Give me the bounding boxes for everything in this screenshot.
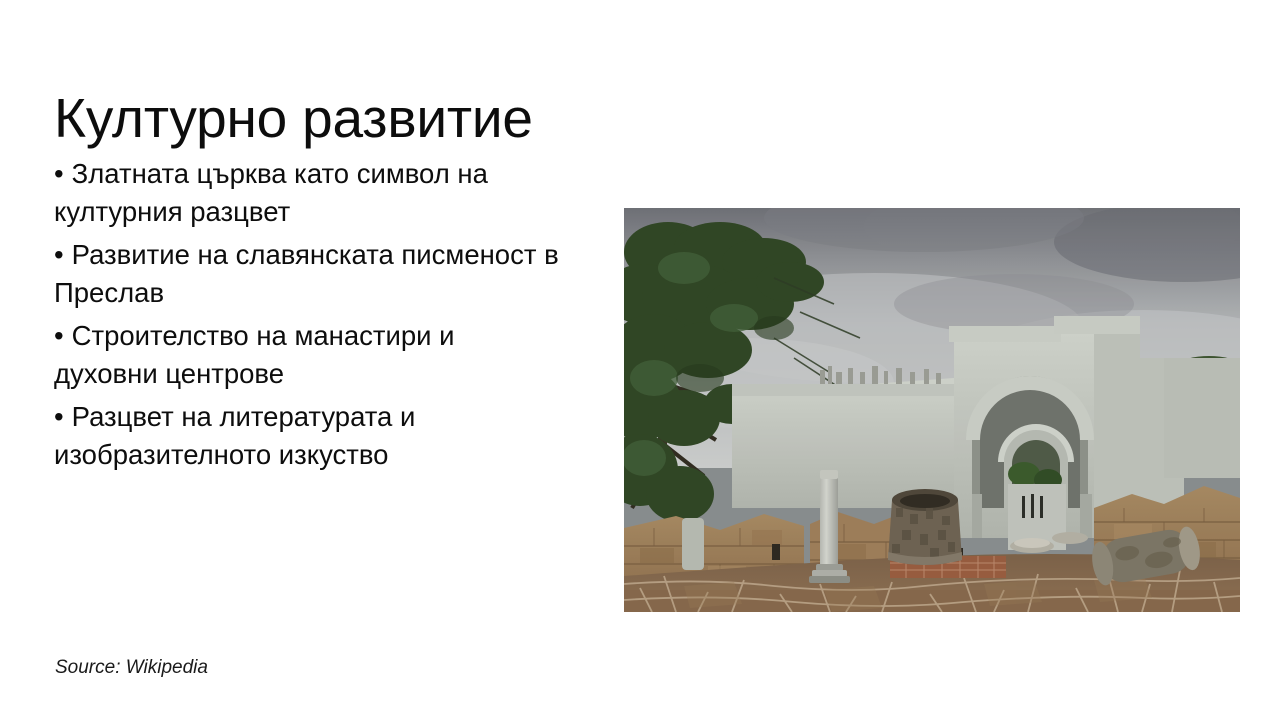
- page-title: Културно развитие: [54, 88, 754, 150]
- slide: Културно развитие •Златната църква като …: [0, 0, 1280, 720]
- photo-illustration: [624, 208, 1240, 612]
- list-item: •Развитие на славянската писменост в Пре…: [54, 236, 564, 312]
- list-item-label: Разцвет на литературата и изобразителнот…: [54, 401, 415, 470]
- list-item-label: Златната църква като символ на културния…: [54, 158, 488, 227]
- list-item: •Разцвет на литературата и изобразително…: [54, 398, 564, 474]
- slide-photo: [624, 208, 1240, 612]
- list-item: •Златната църква като символ на културни…: [54, 155, 564, 231]
- list-item: •Строителство на манастири и духовни цен…: [54, 317, 564, 393]
- bullet-list: •Златната църква като символ на културни…: [54, 155, 564, 479]
- bullet-marker-icon: •: [54, 317, 64, 355]
- bullet-marker-icon: •: [54, 398, 64, 436]
- source-caption: Source: Wikipedia: [55, 657, 208, 679]
- list-item-label: Развитие на славянската писменост в Прес…: [54, 239, 559, 308]
- bullet-marker-icon: •: [54, 236, 64, 274]
- bullet-marker-icon: •: [54, 155, 64, 193]
- list-item-label: Строителство на манастири и духовни цент…: [54, 320, 455, 389]
